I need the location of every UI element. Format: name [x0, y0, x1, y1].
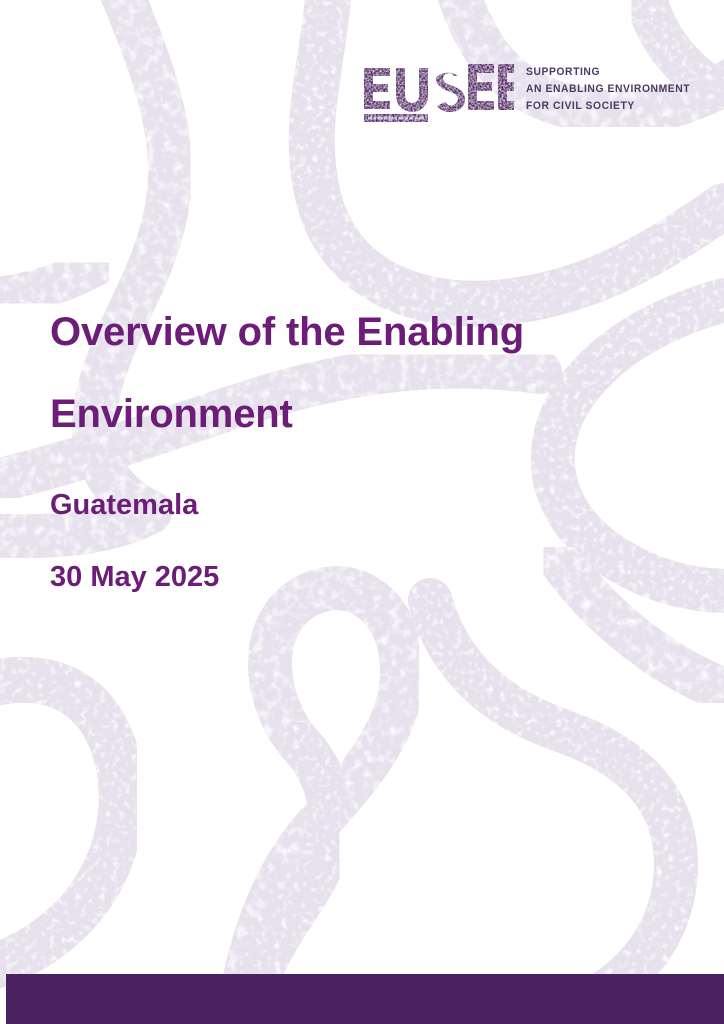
publication-date: 30 May 2025 [50, 563, 670, 592]
logo-tagline-line-3: FOR CIVIL SOCIETY [526, 98, 690, 115]
logo-tagline: SUPPORTING AN ENABLING ENVIRONMENT FOR C… [526, 58, 690, 115]
country-subtitle: Guatemala [50, 491, 670, 520]
eu-see-logo: SUPPORTING AN ENABLING ENVIRONMENT FOR C… [362, 58, 674, 134]
logo-tagline-line-2: AN ENABLING ENVIRONMENT [526, 81, 690, 98]
cover-page: SUPPORTING AN ENABLING ENVIRONMENT FOR C… [0, 0, 724, 1024]
page-title-line-1: Overview of the Enabling [50, 312, 670, 352]
eu-see-wordmark-icon [362, 58, 514, 130]
logo-tagline-line-1: SUPPORTING [526, 64, 690, 81]
page-title: Overview of the Enabling Environment [50, 312, 670, 434]
footer-bar [6, 974, 724, 1024]
cover-text-block: Overview of the Enabling Environment Gua… [50, 312, 670, 592]
page-title-line-2: Environment [50, 394, 670, 434]
